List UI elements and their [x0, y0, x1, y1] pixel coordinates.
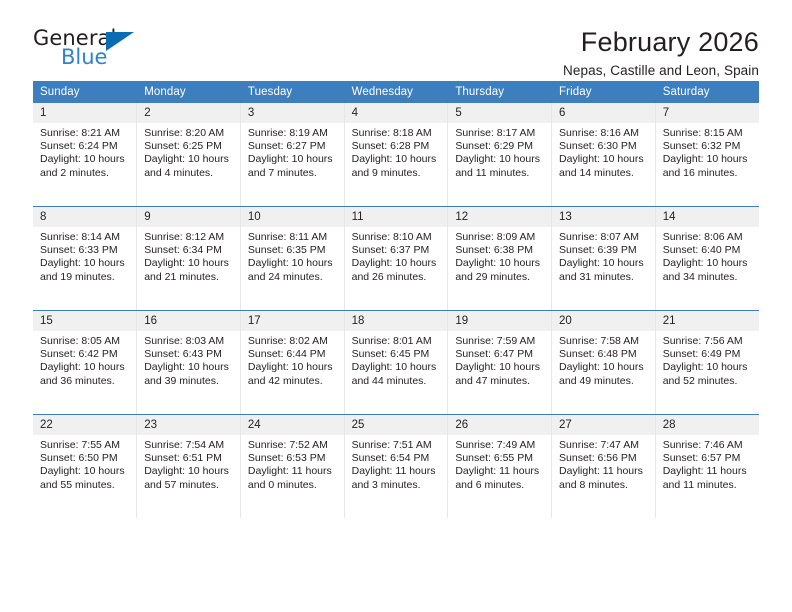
daylight-duration-line2: and 0 minutes.: [248, 479, 338, 492]
daylight-duration-line1: Daylight: 10 hours: [40, 257, 130, 270]
calendar-day-cell[interactable]: 1Sunrise: 8:21 AMSunset: 6:24 PMDaylight…: [33, 103, 137, 207]
daylight-duration-line1: Daylight: 10 hours: [663, 257, 753, 270]
calendar-day-cell[interactable]: 11Sunrise: 8:10 AMSunset: 6:37 PMDayligh…: [344, 207, 448, 311]
sunrise-time: Sunrise: 7:46 AM: [663, 439, 753, 452]
day-sun-info: Sunrise: 7:52 AMSunset: 6:53 PMDaylight:…: [241, 435, 344, 492]
calendar-day-cell[interactable]: 9Sunrise: 8:12 AMSunset: 6:34 PMDaylight…: [137, 207, 241, 311]
day-sun-info: Sunrise: 8:18 AMSunset: 6:28 PMDaylight:…: [345, 123, 448, 180]
day-sun-info: Sunrise: 8:17 AMSunset: 6:29 PMDaylight:…: [448, 123, 551, 180]
sunset-time: Sunset: 6:51 PM: [144, 452, 234, 465]
daylight-duration-line1: Daylight: 10 hours: [40, 465, 130, 478]
daylight-duration-line2: and 7 minutes.: [248, 167, 338, 180]
daylight-duration-line2: and 49 minutes.: [559, 375, 649, 388]
day-number: 17: [241, 311, 344, 331]
day-number: 3: [241, 103, 344, 123]
daylight-duration-line2: and 55 minutes.: [40, 479, 130, 492]
sunrise-time: Sunrise: 8:03 AM: [144, 335, 234, 348]
day-sun-info: Sunrise: 8:06 AMSunset: 6:40 PMDaylight:…: [656, 227, 759, 284]
daylight-duration-line2: and 9 minutes.: [352, 167, 442, 180]
day-number: 21: [656, 311, 759, 331]
day-sun-info: Sunrise: 8:20 AMSunset: 6:25 PMDaylight:…: [137, 123, 240, 180]
day-number: 12: [448, 207, 551, 227]
sunset-time: Sunset: 6:33 PM: [40, 244, 130, 257]
day-number: 14: [656, 207, 759, 227]
day-sun-info: Sunrise: 8:10 AMSunset: 6:37 PMDaylight:…: [345, 227, 448, 284]
daylight-duration-line1: Daylight: 11 hours: [352, 465, 442, 478]
sunrise-time: Sunrise: 7:59 AM: [455, 335, 545, 348]
sunrise-time: Sunrise: 8:09 AM: [455, 231, 545, 244]
daylight-duration-line1: Daylight: 10 hours: [352, 361, 442, 374]
weekday-header-saturday: Saturday: [655, 81, 759, 103]
day-number: 4: [345, 103, 448, 123]
day-sun-info: Sunrise: 8:21 AMSunset: 6:24 PMDaylight:…: [33, 123, 136, 180]
sunset-time: Sunset: 6:40 PM: [663, 244, 753, 257]
day-sun-info: Sunrise: 7:51 AMSunset: 6:54 PMDaylight:…: [345, 435, 448, 492]
calendar-week-row: 22Sunrise: 7:55 AMSunset: 6:50 PMDayligh…: [33, 415, 759, 519]
daylight-duration-line2: and 16 minutes.: [663, 167, 753, 180]
calendar-day-cell[interactable]: 26Sunrise: 7:49 AMSunset: 6:55 PMDayligh…: [448, 415, 552, 519]
sunrise-time: Sunrise: 7:52 AM: [248, 439, 338, 452]
day-sun-info: Sunrise: 7:58 AMSunset: 6:48 PMDaylight:…: [552, 331, 655, 388]
daylight-duration-line2: and 11 minutes.: [455, 167, 545, 180]
day-sun-info: Sunrise: 7:46 AMSunset: 6:57 PMDaylight:…: [656, 435, 759, 492]
calendar-day-cell[interactable]: 14Sunrise: 8:06 AMSunset: 6:40 PMDayligh…: [655, 207, 759, 311]
daylight-duration-line2: and 42 minutes.: [248, 375, 338, 388]
day-number: 8: [33, 207, 136, 227]
day-sun-info: Sunrise: 8:12 AMSunset: 6:34 PMDaylight:…: [137, 227, 240, 284]
calendar-day-cell[interactable]: 5Sunrise: 8:17 AMSunset: 6:29 PMDaylight…: [448, 103, 552, 207]
sunrise-time: Sunrise: 8:15 AM: [663, 127, 753, 140]
daylight-duration-line2: and 44 minutes.: [352, 375, 442, 388]
calendar-week-row: 8Sunrise: 8:14 AMSunset: 6:33 PMDaylight…: [33, 207, 759, 311]
page-title: February 2026: [563, 28, 759, 56]
sunset-time: Sunset: 6:29 PM: [455, 140, 545, 153]
calendar-day-cell[interactable]: 21Sunrise: 7:56 AMSunset: 6:49 PMDayligh…: [655, 311, 759, 415]
sunrise-time: Sunrise: 7:54 AM: [144, 439, 234, 452]
calendar-day-cell[interactable]: 7Sunrise: 8:15 AMSunset: 6:32 PMDaylight…: [655, 103, 759, 207]
day-number: 1: [33, 103, 136, 123]
calendar-day-cell[interactable]: 2Sunrise: 8:20 AMSunset: 6:25 PMDaylight…: [137, 103, 241, 207]
sunset-time: Sunset: 6:47 PM: [455, 348, 545, 361]
day-sun-info: Sunrise: 8:05 AMSunset: 6:42 PMDaylight:…: [33, 331, 136, 388]
daylight-duration-line1: Daylight: 11 hours: [455, 465, 545, 478]
daylight-duration-line2: and 24 minutes.: [248, 271, 338, 284]
sunrise-time: Sunrise: 8:02 AM: [248, 335, 338, 348]
day-sun-info: Sunrise: 8:01 AMSunset: 6:45 PMDaylight:…: [345, 331, 448, 388]
sunset-time: Sunset: 6:56 PM: [559, 452, 649, 465]
weekday-header-friday: Friday: [552, 81, 656, 103]
sunrise-time: Sunrise: 8:18 AM: [352, 127, 442, 140]
sunset-time: Sunset: 6:50 PM: [40, 452, 130, 465]
daylight-duration-line2: and 4 minutes.: [144, 167, 234, 180]
day-number: 16: [137, 311, 240, 331]
daylight-duration-line2: and 11 minutes.: [663, 479, 753, 492]
daylight-duration-line1: Daylight: 10 hours: [248, 257, 338, 270]
sunrise-time: Sunrise: 8:07 AM: [559, 231, 649, 244]
calendar-day-cell[interactable]: 17Sunrise: 8:02 AMSunset: 6:44 PMDayligh…: [240, 311, 344, 415]
daylight-duration-line2: and 8 minutes.: [559, 479, 649, 492]
daylight-duration-line1: Daylight: 11 hours: [663, 465, 753, 478]
calendar-day-cell[interactable]: 3Sunrise: 8:19 AMSunset: 6:27 PMDaylight…: [240, 103, 344, 207]
sunset-time: Sunset: 6:44 PM: [248, 348, 338, 361]
sunrise-time: Sunrise: 8:14 AM: [40, 231, 130, 244]
day-number: 13: [552, 207, 655, 227]
day-sun-info: Sunrise: 7:54 AMSunset: 6:51 PMDaylight:…: [137, 435, 240, 492]
calendar-day-cell[interactable]: 15Sunrise: 8:05 AMSunset: 6:42 PMDayligh…: [33, 311, 137, 415]
day-number: 22: [33, 415, 136, 435]
daylight-duration-line1: Daylight: 10 hours: [40, 153, 130, 166]
day-sun-info: Sunrise: 8:11 AMSunset: 6:35 PMDaylight:…: [241, 227, 344, 284]
calendar-body: 1Sunrise: 8:21 AMSunset: 6:24 PMDaylight…: [33, 103, 759, 518]
calendar-day-cell[interactable]: 20Sunrise: 7:58 AMSunset: 6:48 PMDayligh…: [552, 311, 656, 415]
sunset-time: Sunset: 6:38 PM: [455, 244, 545, 257]
sunrise-time: Sunrise: 7:49 AM: [455, 439, 545, 452]
day-number: 10: [241, 207, 344, 227]
calendar-day-cell[interactable]: 22Sunrise: 7:55 AMSunset: 6:50 PMDayligh…: [33, 415, 137, 519]
day-sun-info: Sunrise: 8:07 AMSunset: 6:39 PMDaylight:…: [552, 227, 655, 284]
daylight-duration-line1: Daylight: 10 hours: [559, 361, 649, 374]
day-number: 26: [448, 415, 551, 435]
sunset-time: Sunset: 6:53 PM: [248, 452, 338, 465]
daylight-duration-line2: and 14 minutes.: [559, 167, 649, 180]
calendar-day-cell[interactable]: 8Sunrise: 8:14 AMSunset: 6:33 PMDaylight…: [33, 207, 137, 311]
daylight-duration-line1: Daylight: 10 hours: [248, 361, 338, 374]
daylight-duration-line1: Daylight: 10 hours: [248, 153, 338, 166]
day-number: 24: [241, 415, 344, 435]
daylight-duration-line1: Daylight: 10 hours: [559, 257, 649, 270]
calendar-day-cell[interactable]: 13Sunrise: 8:07 AMSunset: 6:39 PMDayligh…: [552, 207, 656, 311]
calendar-header-row: Sunday Monday Tuesday Wednesday Thursday…: [33, 81, 759, 103]
sunset-time: Sunset: 6:24 PM: [40, 140, 130, 153]
calendar-week-row: 15Sunrise: 8:05 AMSunset: 6:42 PMDayligh…: [33, 311, 759, 415]
calendar-table: Sunday Monday Tuesday Wednesday Thursday…: [33, 81, 759, 518]
daylight-duration-line1: Daylight: 10 hours: [144, 465, 234, 478]
day-sun-info: Sunrise: 7:49 AMSunset: 6:55 PMDaylight:…: [448, 435, 551, 492]
sunset-time: Sunset: 6:32 PM: [663, 140, 753, 153]
daylight-duration-line1: Daylight: 10 hours: [455, 257, 545, 270]
daylight-duration-line1: Daylight: 10 hours: [40, 361, 130, 374]
daylight-duration-line2: and 36 minutes.: [40, 375, 130, 388]
calendar-day-cell[interactable]: 23Sunrise: 7:54 AMSunset: 6:51 PMDayligh…: [137, 415, 241, 519]
sunrise-time: Sunrise: 8:16 AM: [559, 127, 649, 140]
day-sun-info: Sunrise: 8:15 AMSunset: 6:32 PMDaylight:…: [656, 123, 759, 180]
sunrise-time: Sunrise: 7:55 AM: [40, 439, 130, 452]
daylight-duration-line2: and 2 minutes.: [40, 167, 130, 180]
day-sun-info: Sunrise: 7:55 AMSunset: 6:50 PMDaylight:…: [33, 435, 136, 492]
day-number: 7: [656, 103, 759, 123]
daylight-duration-line2: and 34 minutes.: [663, 271, 753, 284]
day-number: 15: [33, 311, 136, 331]
day-number: 11: [345, 207, 448, 227]
day-number: 23: [137, 415, 240, 435]
sunset-time: Sunset: 6:48 PM: [559, 348, 649, 361]
sunset-time: Sunset: 6:39 PM: [559, 244, 649, 257]
sunrise-time: Sunrise: 7:51 AM: [352, 439, 442, 452]
sunrise-time: Sunrise: 7:56 AM: [663, 335, 753, 348]
day-sun-info: Sunrise: 8:02 AMSunset: 6:44 PMDaylight:…: [241, 331, 344, 388]
sunrise-time: Sunrise: 8:12 AM: [144, 231, 234, 244]
sunset-time: Sunset: 6:25 PM: [144, 140, 234, 153]
calendar-week-row: 1Sunrise: 8:21 AMSunset: 6:24 PMDaylight…: [33, 103, 759, 207]
day-sun-info: Sunrise: 8:14 AMSunset: 6:33 PMDaylight:…: [33, 227, 136, 284]
sunset-time: Sunset: 6:35 PM: [248, 244, 338, 257]
day-number: 27: [552, 415, 655, 435]
calendar-day-cell[interactable]: 12Sunrise: 8:09 AMSunset: 6:38 PMDayligh…: [448, 207, 552, 311]
sunset-time: Sunset: 6:55 PM: [455, 452, 545, 465]
daylight-duration-line1: Daylight: 11 hours: [248, 465, 338, 478]
brand-name-blue: Blue: [61, 47, 107, 68]
sunset-time: Sunset: 6:34 PM: [144, 244, 234, 257]
sunrise-time: Sunrise: 8:10 AM: [352, 231, 442, 244]
day-sun-info: Sunrise: 7:47 AMSunset: 6:56 PMDaylight:…: [552, 435, 655, 492]
sunset-time: Sunset: 6:28 PM: [352, 140, 442, 153]
sunset-time: Sunset: 6:37 PM: [352, 244, 442, 257]
day-number: 5: [448, 103, 551, 123]
sunset-time: Sunset: 6:49 PM: [663, 348, 753, 361]
calendar-day-cell[interactable]: 16Sunrise: 8:03 AMSunset: 6:43 PMDayligh…: [137, 311, 241, 415]
daylight-duration-line2: and 31 minutes.: [559, 271, 649, 284]
page-header: General Blue February 2026 Nepas, Castil…: [33, 0, 759, 68]
day-number: 19: [448, 311, 551, 331]
sunrise-time: Sunrise: 8:19 AM: [248, 127, 338, 140]
brand-triangle-icon: [106, 32, 134, 51]
daylight-duration-line2: and 52 minutes.: [663, 375, 753, 388]
daylight-duration-line1: Daylight: 10 hours: [559, 153, 649, 166]
brand-logo[interactable]: General Blue: [33, 28, 153, 74]
sunrise-time: Sunrise: 8:06 AM: [663, 231, 753, 244]
sunrise-time: Sunrise: 7:47 AM: [559, 439, 649, 452]
title-block: February 2026 Nepas, Castille and Leon, …: [563, 28, 759, 78]
day-number: 28: [656, 415, 759, 435]
daylight-duration-line2: and 57 minutes.: [144, 479, 234, 492]
sunrise-time: Sunrise: 7:58 AM: [559, 335, 649, 348]
daylight-duration-line2: and 21 minutes.: [144, 271, 234, 284]
calendar-day-cell[interactable]: 10Sunrise: 8:11 AMSunset: 6:35 PMDayligh…: [240, 207, 344, 311]
day-sun-info: Sunrise: 8:03 AMSunset: 6:43 PMDaylight:…: [137, 331, 240, 388]
day-sun-info: Sunrise: 7:59 AMSunset: 6:47 PMDaylight:…: [448, 331, 551, 388]
weekday-header-monday: Monday: [137, 81, 241, 103]
calendar-day-cell[interactable]: 6Sunrise: 8:16 AMSunset: 6:30 PMDaylight…: [552, 103, 656, 207]
daylight-duration-line2: and 6 minutes.: [455, 479, 545, 492]
weekday-header-sunday: Sunday: [33, 81, 137, 103]
day-number: 9: [137, 207, 240, 227]
daylight-duration-line1: Daylight: 10 hours: [144, 257, 234, 270]
daylight-duration-line1: Daylight: 10 hours: [663, 361, 753, 374]
day-sun-info: Sunrise: 8:16 AMSunset: 6:30 PMDaylight:…: [552, 123, 655, 180]
daylight-duration-line1: Daylight: 11 hours: [559, 465, 649, 478]
daylight-duration-line2: and 19 minutes.: [40, 271, 130, 284]
sunrise-time: Sunrise: 8:21 AM: [40, 127, 130, 140]
sunset-time: Sunset: 6:43 PM: [144, 348, 234, 361]
daylight-duration-line1: Daylight: 10 hours: [455, 153, 545, 166]
sunrise-time: Sunrise: 8:20 AM: [144, 127, 234, 140]
day-number: 20: [552, 311, 655, 331]
sunset-time: Sunset: 6:45 PM: [352, 348, 442, 361]
calendar-day-cell[interactable]: 4Sunrise: 8:18 AMSunset: 6:28 PMDaylight…: [344, 103, 448, 207]
sunrise-time: Sunrise: 8:01 AM: [352, 335, 442, 348]
sunset-time: Sunset: 6:54 PM: [352, 452, 442, 465]
page-subtitle: Nepas, Castille and Leon, Spain: [563, 63, 759, 78]
calendar-page: General Blue February 2026 Nepas, Castil…: [0, 0, 792, 612]
sunset-time: Sunset: 6:27 PM: [248, 140, 338, 153]
day-sun-info: Sunrise: 8:09 AMSunset: 6:38 PMDaylight:…: [448, 227, 551, 284]
daylight-duration-line2: and 47 minutes.: [455, 375, 545, 388]
daylight-duration-line2: and 39 minutes.: [144, 375, 234, 388]
sunset-time: Sunset: 6:42 PM: [40, 348, 130, 361]
daylight-duration-line2: and 29 minutes.: [455, 271, 545, 284]
sunset-time: Sunset: 6:57 PM: [663, 452, 753, 465]
day-number: 6: [552, 103, 655, 123]
calendar-day-cell[interactable]: 28Sunrise: 7:46 AMSunset: 6:57 PMDayligh…: [655, 415, 759, 519]
calendar-day-cell[interactable]: 18Sunrise: 8:01 AMSunset: 6:45 PMDayligh…: [344, 311, 448, 415]
daylight-duration-line1: Daylight: 10 hours: [663, 153, 753, 166]
daylight-duration-line2: and 26 minutes.: [352, 271, 442, 284]
daylight-duration-line1: Daylight: 10 hours: [144, 153, 234, 166]
weekday-header-wednesday: Wednesday: [344, 81, 448, 103]
daylight-duration-line1: Daylight: 10 hours: [352, 153, 442, 166]
calendar-day-cell[interactable]: 25Sunrise: 7:51 AMSunset: 6:54 PMDayligh…: [344, 415, 448, 519]
daylight-duration-line1: Daylight: 10 hours: [455, 361, 545, 374]
sunrise-time: Sunrise: 8:17 AM: [455, 127, 545, 140]
weekday-header-thursday: Thursday: [448, 81, 552, 103]
weekday-header-tuesday: Tuesday: [240, 81, 344, 103]
calendar-day-cell[interactable]: 27Sunrise: 7:47 AMSunset: 6:56 PMDayligh…: [552, 415, 656, 519]
day-number: 2: [137, 103, 240, 123]
daylight-duration-line2: and 3 minutes.: [352, 479, 442, 492]
calendar-day-cell[interactable]: 24Sunrise: 7:52 AMSunset: 6:53 PMDayligh…: [240, 415, 344, 519]
day-number: 25: [345, 415, 448, 435]
day-sun-info: Sunrise: 8:19 AMSunset: 6:27 PMDaylight:…: [241, 123, 344, 180]
sunrise-time: Sunrise: 8:11 AM: [248, 231, 338, 244]
day-number: 18: [345, 311, 448, 331]
sunrise-time: Sunrise: 8:05 AM: [40, 335, 130, 348]
calendar-day-cell[interactable]: 19Sunrise: 7:59 AMSunset: 6:47 PMDayligh…: [448, 311, 552, 415]
day-sun-info: Sunrise: 7:56 AMSunset: 6:49 PMDaylight:…: [656, 331, 759, 388]
daylight-duration-line1: Daylight: 10 hours: [352, 257, 442, 270]
sunset-time: Sunset: 6:30 PM: [559, 140, 649, 153]
daylight-duration-line1: Daylight: 10 hours: [144, 361, 234, 374]
